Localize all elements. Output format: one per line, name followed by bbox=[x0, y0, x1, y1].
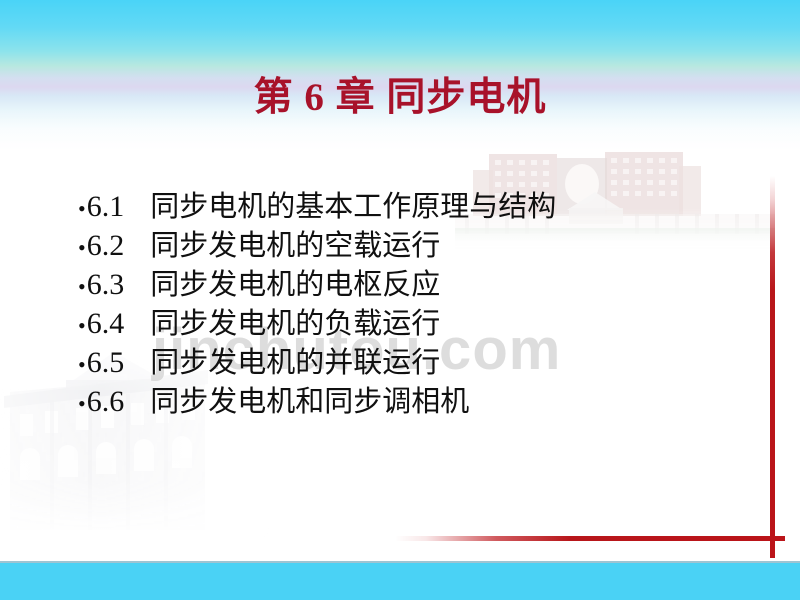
red-horizontal-rule bbox=[395, 536, 785, 541]
list-item-number: 6.1 bbox=[87, 188, 125, 225]
bullet-icon: • bbox=[78, 346, 86, 383]
list-item-label: 同步发电机的并联运行 bbox=[150, 345, 440, 382]
list-item[interactable]: • 6.6 同步发电机和同步调相机 bbox=[78, 383, 698, 422]
bullet-icon: • bbox=[78, 268, 86, 305]
bullet-icon: • bbox=[78, 385, 86, 422]
red-vertical-rule bbox=[770, 176, 775, 558]
bullet-icon: • bbox=[78, 190, 86, 227]
list-item-number: 6.2 bbox=[87, 227, 125, 264]
list-item-label: 同步发电机和同步调相机 bbox=[150, 384, 469, 421]
list-item-label: 同步发电机的电枢反应 bbox=[150, 267, 440, 304]
list-item[interactable]: • 6.1 同步电机的基本工作原理与结构 bbox=[78, 188, 698, 227]
list-item-number: 6.3 bbox=[87, 266, 125, 303]
list-item[interactable]: • 6.4 同步发电机的负载运行 bbox=[78, 305, 698, 344]
list-item-label: 同步电机的基本工作原理与结构 bbox=[150, 189, 556, 226]
presentation-slide: jinchutou.com 第 6 章 同步电机 • 6.1 同步电机的基本工作… bbox=[0, 0, 800, 600]
bullet-icon: • bbox=[78, 229, 86, 266]
outline-list: • 6.1 同步电机的基本工作原理与结构 • 6.2 同步发电机的空载运行 • … bbox=[78, 188, 698, 422]
list-item-number: 6.5 bbox=[87, 344, 125, 381]
slide-title: 第 6 章 同步电机 bbox=[0, 66, 800, 122]
list-item[interactable]: • 6.2 同步发电机的空载运行 bbox=[78, 227, 698, 266]
list-item-label: 同步发电机的空载运行 bbox=[150, 228, 440, 265]
bottom-cyan-band bbox=[0, 561, 800, 600]
list-item[interactable]: • 6.5 同步发电机的并联运行 bbox=[78, 344, 698, 383]
list-item-number: 6.4 bbox=[87, 305, 125, 342]
list-item-label: 同步发电机的负载运行 bbox=[150, 306, 440, 343]
list-item[interactable]: • 6.3 同步发电机的电枢反应 bbox=[78, 266, 698, 305]
bullet-icon: • bbox=[78, 307, 86, 344]
list-item-number: 6.6 bbox=[87, 383, 125, 420]
